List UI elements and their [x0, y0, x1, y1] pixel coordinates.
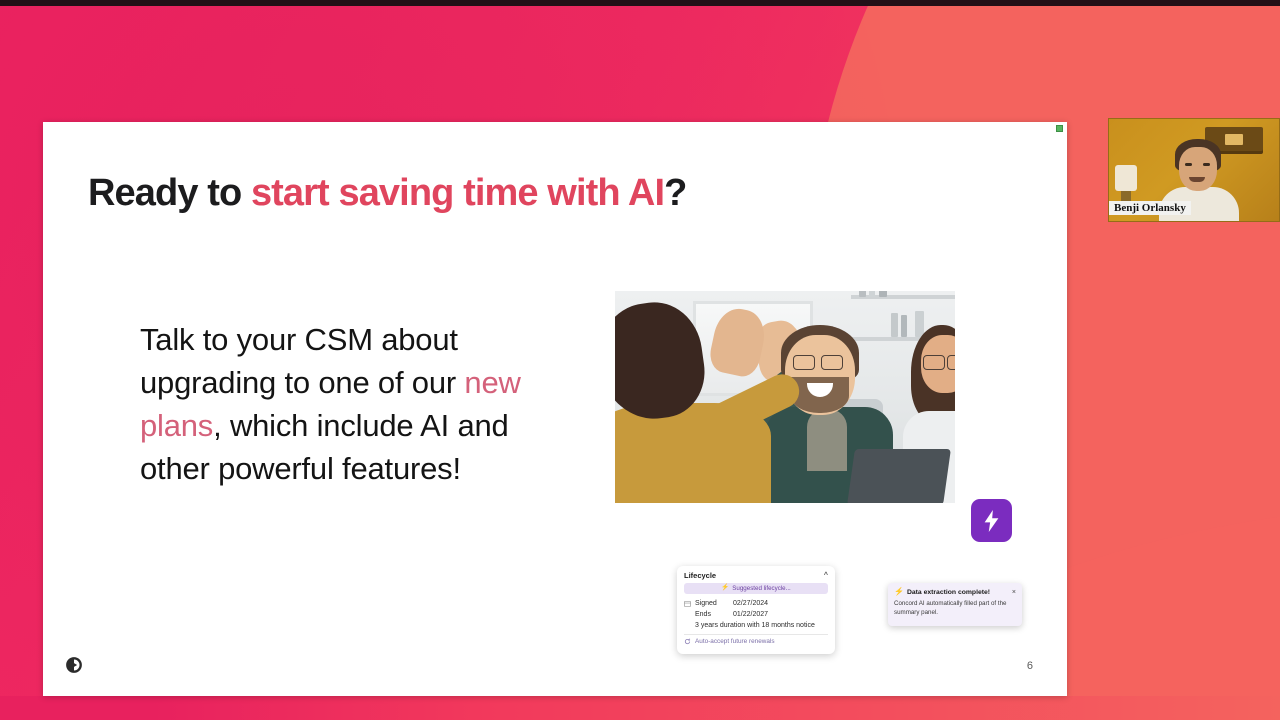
photo-book [859, 291, 866, 297]
lifecycle-row-ends: Ends 01/22/2027 [684, 609, 828, 620]
lifecycle-value-signed: 02/27/2024 [733, 598, 768, 609]
lifecycle-card-header: Lifecycle ^ [684, 571, 828, 583]
ai-lightning-badge [971, 499, 1012, 542]
lifecycle-label-signed: Signed [695, 598, 729, 609]
photo-shelf [851, 295, 955, 299]
slide-title: Ready to start saving time with AI? [88, 172, 686, 215]
suggested-lifecycle-banner[interactable]: ⚡ Suggested lifecycle... [684, 583, 828, 594]
photo-laptop [847, 449, 951, 503]
slide-photo-team-highfive [615, 291, 955, 503]
slide-title-suffix: ? [664, 172, 686, 214]
photo-book [869, 291, 875, 297]
slide-title-prefix: Ready to [88, 172, 251, 214]
lifecycle-label-ends: Ends [695, 609, 729, 620]
lightning-bolt-icon [983, 510, 1000, 532]
auto-accept-renewals-label: Auto-accept future renewals [695, 638, 775, 645]
chevron-up-icon[interactable]: ^ [824, 572, 828, 579]
toast-title: Data extraction complete! [907, 589, 1009, 596]
photo-person-left-body [615, 403, 771, 503]
photo-person-center-glasses [793, 355, 815, 370]
spacer [684, 611, 691, 618]
data-extraction-toast[interactable]: ⚡ Data extraction complete! × Concord AI… [888, 583, 1022, 626]
lifecycle-duration-note: 3 years duration with 18 months notice [695, 620, 815, 631]
lifecycle-card[interactable]: Lifecycle ^ ⚡ Suggested lifecycle... Sig… [677, 566, 835, 654]
window-top-bar [0, 0, 1280, 6]
slide-page-number: 6 [1027, 660, 1033, 672]
background-bottom-strip [0, 696, 1280, 720]
suggested-lifecycle-label: Suggested lifecycle... [732, 585, 790, 592]
photo-person-center-shirt [807, 409, 847, 471]
lifecycle-row-signed: Signed 02/27/2024 [684, 598, 828, 609]
refresh-icon [684, 638, 691, 645]
webcam-shelf-item [1225, 134, 1243, 145]
webcam-participant-tile[interactable]: Benji Orlansky [1108, 118, 1280, 222]
lifecycle-title: Lifecycle [684, 571, 716, 580]
photo-book [879, 291, 887, 297]
photo-book [891, 313, 898, 337]
webcam-person-face [1179, 147, 1217, 191]
lightning-bolt-icon: ⚡ [721, 585, 729, 592]
photo-person-center-glasses [821, 355, 843, 370]
webcam-person-mouth [1189, 177, 1205, 182]
slide-canvas: Ready to start saving time with AI? Talk… [43, 122, 1067, 696]
photo-book [901, 315, 907, 337]
close-icon[interactable]: × [1012, 589, 1016, 596]
concord-logo [65, 656, 83, 674]
webcam-participant-name: Benji Orlansky [1109, 201, 1191, 215]
toast-body: Concord AI automatically filled part of … [894, 599, 1016, 617]
webcam-person-eye [1203, 163, 1210, 166]
webcam-lamp [1115, 165, 1137, 191]
photo-person-right-glasses [923, 355, 945, 370]
slide-status-dot [1056, 125, 1063, 132]
body-text-part1: Talk to your CSM about upgrading to one … [140, 322, 464, 400]
toast-header: ⚡ Data extraction complete! × [894, 588, 1016, 596]
slide-title-accent: start saving time with AI [251, 172, 664, 214]
lifecycle-value-ends: 01/22/2027 [733, 609, 768, 620]
lightning-bolt-icon: ⚡ [894, 588, 904, 596]
calendar-icon [684, 600, 691, 607]
photo-person-right-glasses [947, 355, 955, 370]
slide-body-text: Talk to your CSM about upgrading to one … [140, 318, 560, 490]
spacer [684, 622, 691, 629]
lifecycle-card-footer[interactable]: Auto-accept future renewals [684, 634, 828, 645]
lifecycle-row-note: 3 years duration with 18 months notice [684, 620, 828, 631]
webcam-person-eye [1185, 163, 1192, 166]
